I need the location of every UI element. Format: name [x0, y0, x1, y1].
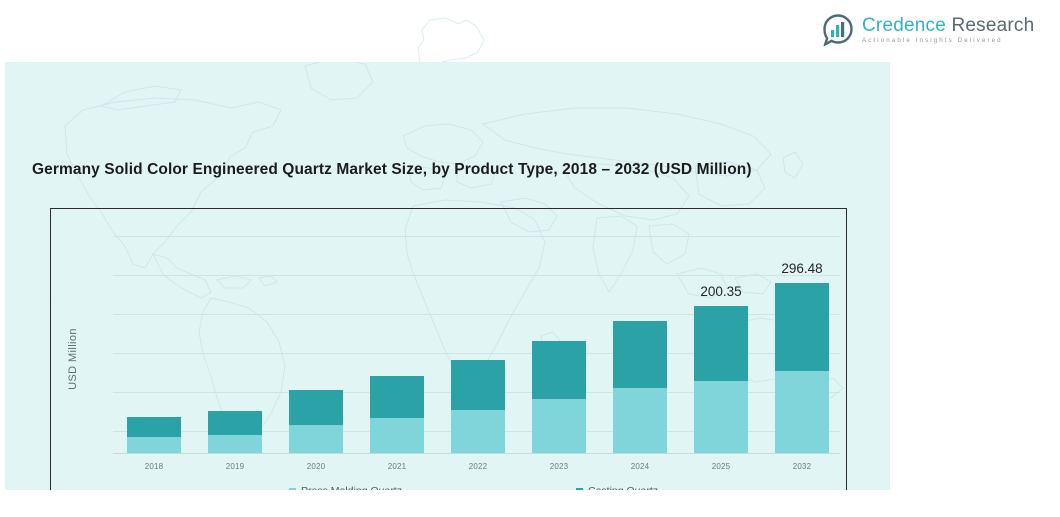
x-tick-2024: 2024 [613, 462, 667, 471]
decorative-map-fragment-top [380, 14, 560, 64]
bar-2032[interactable]: 296.48 [775, 283, 829, 453]
bar-2018[interactable] [127, 417, 181, 453]
x-tick-2025: 2025 [694, 462, 748, 471]
x-tick-2022: 2022 [451, 462, 505, 471]
x-tick-2018: 2018 [127, 462, 181, 471]
credence-logo-icon [822, 14, 854, 46]
x-tick-2020: 2020 [289, 462, 343, 471]
bar-2020[interactable] [289, 390, 343, 453]
bar-2019[interactable] [208, 411, 262, 453]
x-tick-2032: 2032 [775, 462, 829, 471]
bar-segment-casting [208, 411, 262, 435]
bar-segment-press-molding [451, 410, 505, 453]
bar-2024[interactable] [613, 321, 667, 453]
legend-swatch-icon [289, 488, 296, 491]
bar-segment-casting [532, 341, 586, 399]
bar-segment-casting [694, 306, 748, 381]
bar-2023[interactable] [532, 341, 586, 453]
chart-title: Germany Solid Color Engineered Quartz Ma… [32, 161, 752, 179]
logo-tagline: Actionable Insights Delivered [862, 38, 1034, 44]
bar-segment-press-molding [289, 425, 343, 453]
bar-2025[interactable]: 200.35 [694, 306, 748, 453]
x-tick-2021: 2021 [370, 462, 424, 471]
legend-label: Press Molding Quartz [301, 485, 402, 490]
bar-2021[interactable] [370, 376, 424, 453]
bar-segment-press-molding [532, 399, 586, 453]
legend-item-casting-quartz[interactable]: Casting Quartz [576, 485, 658, 490]
bar-segment-press-molding [694, 381, 748, 453]
bar-segment-press-molding [370, 418, 424, 453]
bar-segment-casting [370, 376, 424, 418]
y-axis-label: USD Million [63, 209, 83, 490]
x-tick-2019: 2019 [208, 462, 262, 471]
chart-plot-area: USD Million 2018 2019 2020 202 [51, 209, 846, 490]
bar-segment-press-molding [127, 437, 181, 453]
legend-item-press-molding-quartz[interactable]: Press Molding Quartz [289, 485, 402, 490]
axis-baseline [113, 453, 840, 454]
bar-value-label-2025: 200.35 [700, 284, 741, 299]
bar-segment-casting [613, 321, 667, 388]
bar-segment-casting [127, 417, 181, 437]
bar-segment-casting [451, 360, 505, 410]
bar-segment-press-molding [613, 388, 667, 453]
chart-plot-frame: USD Million 2018 2019 2020 202 [50, 208, 847, 490]
chart-panel: Germany Solid Color Engineered Quartz Ma… [5, 62, 890, 490]
credence-research-logo: Credence Research Actionable Insights De… [822, 10, 1022, 50]
legend-label: Casting Quartz [588, 485, 658, 490]
logo-wordmark: Credence Research Actionable Insights De… [862, 16, 1034, 44]
bar-2022[interactable] [451, 360, 505, 453]
bar-segment-casting [775, 283, 829, 371]
gridline [113, 236, 840, 237]
gridline [113, 275, 840, 276]
logo-name-primary: Credence [862, 15, 946, 36]
chart-legend: Press Molding Quartz Casting Quartz [51, 485, 846, 490]
x-tick-2023: 2023 [532, 462, 586, 471]
logo-name-secondary: Research [951, 15, 1034, 36]
y-axis-label-text: USD Million [67, 328, 79, 390]
bar-segment-casting [289, 390, 343, 425]
bar-segment-press-molding [775, 371, 829, 453]
bar-segment-press-molding [208, 435, 262, 453]
legend-swatch-icon [576, 488, 583, 491]
bar-value-label-2032: 296.48 [781, 261, 822, 276]
